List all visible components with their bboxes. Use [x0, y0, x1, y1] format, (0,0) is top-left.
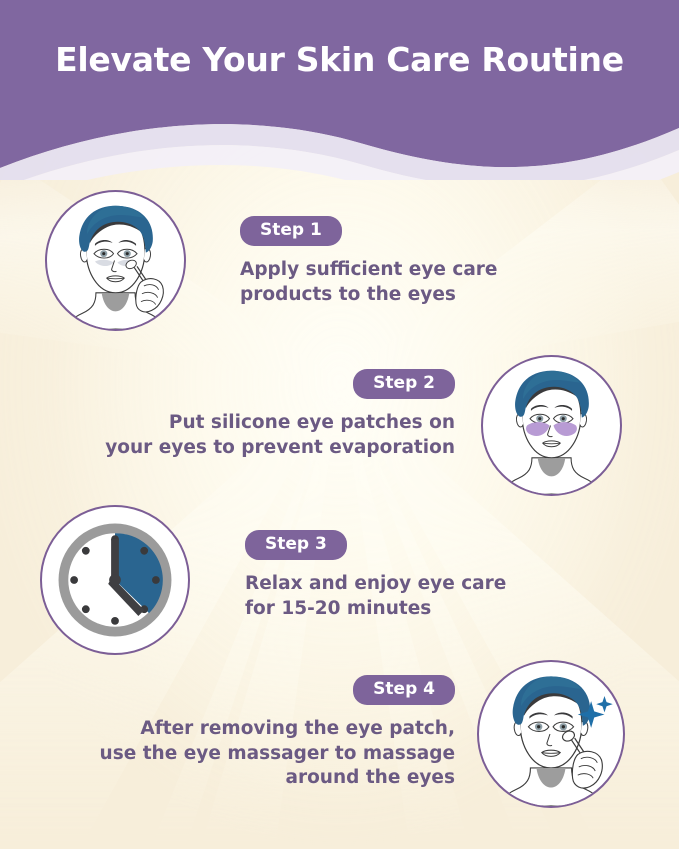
header-banner: Elevate Your Skin Care Routine	[0, 0, 679, 175]
page-title: Elevate Your Skin Care Routine	[0, 40, 679, 79]
step-1-text-block: Step 1 Apply sufficient eye care product…	[240, 216, 540, 307]
step-1-badge: Step 1	[240, 216, 342, 246]
face-applying-cream-icon	[45, 190, 186, 331]
step-3-description: Relax and enjoy eye care for 15-20 minut…	[245, 572, 545, 621]
step-4-description: After removing the eye patch, use the ey…	[55, 717, 455, 791]
face-with-massager-icon	[477, 660, 625, 808]
step-4-text-block: Step 4 After removing the eye patch, use…	[55, 675, 455, 791]
step-4-badge: Step 4	[353, 675, 455, 705]
step-1-description: Apply sufficient eye care products to th…	[240, 258, 540, 307]
step-3-badge: Step 3	[245, 530, 347, 560]
face-with-eye-patches-icon	[481, 355, 622, 496]
clock-icon	[40, 505, 190, 655]
infographic-page: Elevate Your Skin Care Routine	[0, 0, 679, 849]
step-2-badge: Step 2	[353, 369, 455, 399]
step-2-description: Put silicone eye patches on your eyes to…	[55, 411, 455, 460]
step-3-text-block: Step 3 Relax and enjoy eye care for 15-2…	[245, 530, 545, 621]
step-2-text-block: Step 2 Put silicone eye patches on your …	[55, 369, 455, 460]
header-wave-shape	[0, 0, 679, 180]
